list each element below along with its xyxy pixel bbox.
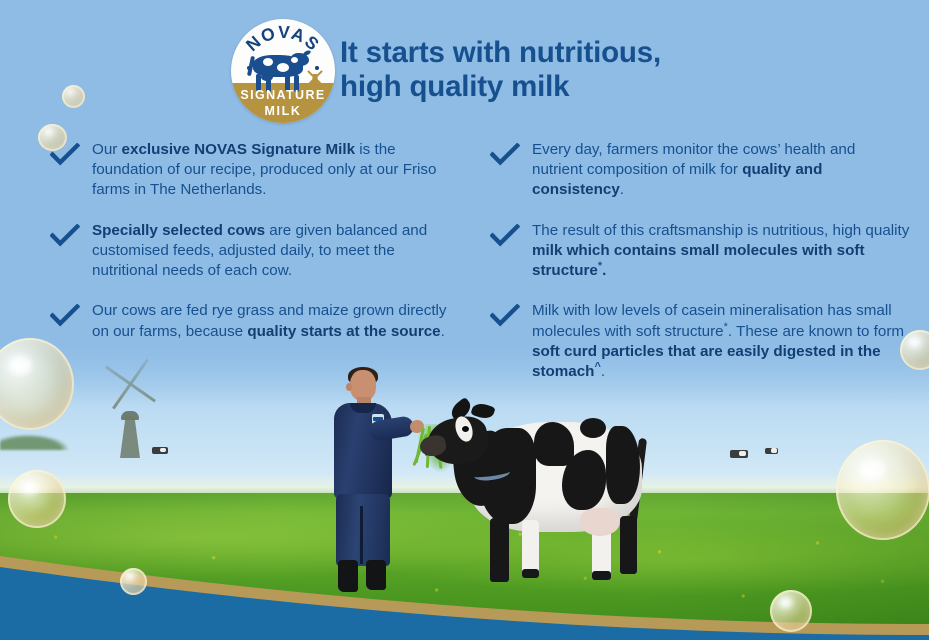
check-icon: [490, 143, 520, 167]
benefit-item: Milk with low levels of casein mineralis…: [490, 301, 910, 382]
benefit-text: Every day, farmers monitor the cows’ hea…: [532, 140, 910, 201]
cow-icon: [247, 53, 309, 93]
benefit-item: Every day, farmers monitor the cows’ hea…: [490, 140, 910, 201]
treeline: [0, 434, 70, 450]
headline-line-2: high quality milk: [340, 70, 760, 104]
logo-milk-text: MILK: [231, 104, 335, 118]
benefit-item: Specially selected cows are given balanc…: [50, 221, 450, 282]
headline-line-1: It starts with nutritious,: [340, 36, 760, 70]
windmill-icon: [305, 66, 325, 88]
distant-cow: [765, 448, 778, 454]
benefit-item: The result of this craftsmanship is nutr…: [490, 221, 910, 282]
right-column: Every day, farmers monitor the cows’ hea…: [490, 140, 910, 402]
benefit-item: Our cows are fed rye grass and maize gro…: [50, 301, 450, 341]
distant-cow: [152, 447, 168, 454]
benefit-text: Milk with low levels of casein mineralis…: [532, 301, 910, 382]
left-column: Our exclusive NOVAS Signature Milk is th…: [50, 140, 450, 362]
benefit-text: Our cows are fed rye grass and maize gro…: [92, 301, 450, 341]
benefit-text: Our exclusive NOVAS Signature Milk is th…: [92, 140, 450, 201]
milk-bubble: [62, 85, 85, 108]
check-icon: [490, 304, 520, 328]
logo-signature-text: SIGNATURE: [231, 88, 335, 102]
svg-text:NOVAS: NOVAS: [242, 22, 324, 55]
poster-canvas: NOVAS SIGNATURE MILK It star: [0, 0, 929, 640]
distant-cow: [730, 450, 748, 458]
novas-logo: NOVAS SIGNATURE MILK: [231, 19, 335, 123]
check-icon: [50, 304, 80, 328]
benefit-item: Our exclusive NOVAS Signature Milk is th…: [50, 140, 450, 201]
page-title: It starts with nutritious, high quality …: [340, 36, 760, 103]
check-icon: [50, 143, 80, 167]
benefit-text: Specially selected cows are given balanc…: [92, 221, 450, 282]
check-icon: [490, 224, 520, 248]
check-icon: [50, 224, 80, 248]
gold-wave-band: [0, 520, 929, 640]
benefit-text: The result of this craftsmanship is nutr…: [532, 221, 910, 282]
